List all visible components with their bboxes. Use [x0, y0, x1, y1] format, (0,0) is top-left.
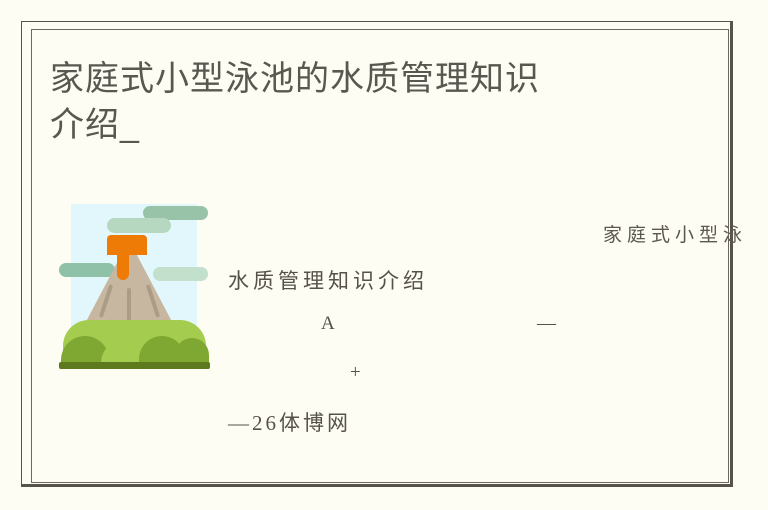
page-title: 家庭式小型泳池的水质管理知识 介绍_ [50, 56, 650, 148]
watermark-text: 家庭式小型泳 [603, 220, 747, 247]
document-page: 家庭式小型泳池的水质管理知识 介绍_ 家庭式小型泳 水质管理知识介绍 A — +… [0, 0, 768, 510]
mountain-group [57, 232, 212, 354]
lava-drip [117, 250, 129, 280]
page-title-line-2: 介绍_ [50, 102, 650, 148]
overlay-dash: — [537, 313, 556, 335]
overlay-letter-a: A [321, 313, 335, 335]
overlay-bottom-text: —26体博网 [228, 407, 351, 437]
cloud-icon [107, 218, 171, 233]
mountain-ridge-line [127, 288, 131, 324]
overlay-plus: + [350, 362, 361, 384]
volcano-illustration [57, 196, 212, 359]
page-title-line-1: 家庭式小型泳池的水质管理知识 [50, 56, 650, 102]
overlay-main-text: 水质管理知识介绍 [228, 265, 428, 295]
ground-bar [59, 362, 210, 369]
